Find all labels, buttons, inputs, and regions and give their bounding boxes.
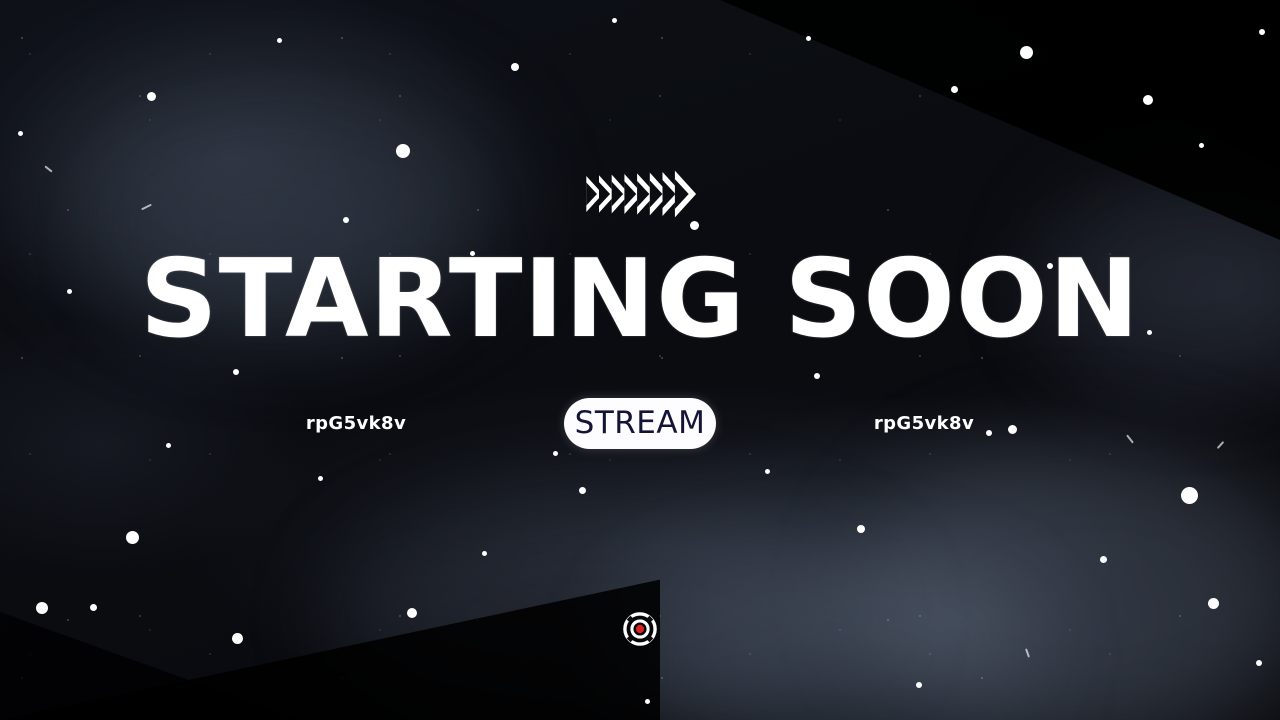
right-channel-label: rpG5vk8v [794, 413, 1054, 434]
stream-badge: STREAM [564, 398, 716, 449]
left-channel-label: rpG5vk8v [226, 413, 486, 434]
page-title: STARTING SOON [0, 246, 1280, 354]
record-target-icon [622, 611, 658, 647]
stream-badge-label: STREAM [575, 408, 706, 439]
double-chevron-right-icon [585, 170, 696, 218]
stream-label-row: rpG5vk8v STREAM rpG5vk8v [0, 397, 1280, 449]
starting-soon-overlay: STARTING SOON rpG5vk8v STREAM rpG5vk8v [0, 0, 1280, 720]
